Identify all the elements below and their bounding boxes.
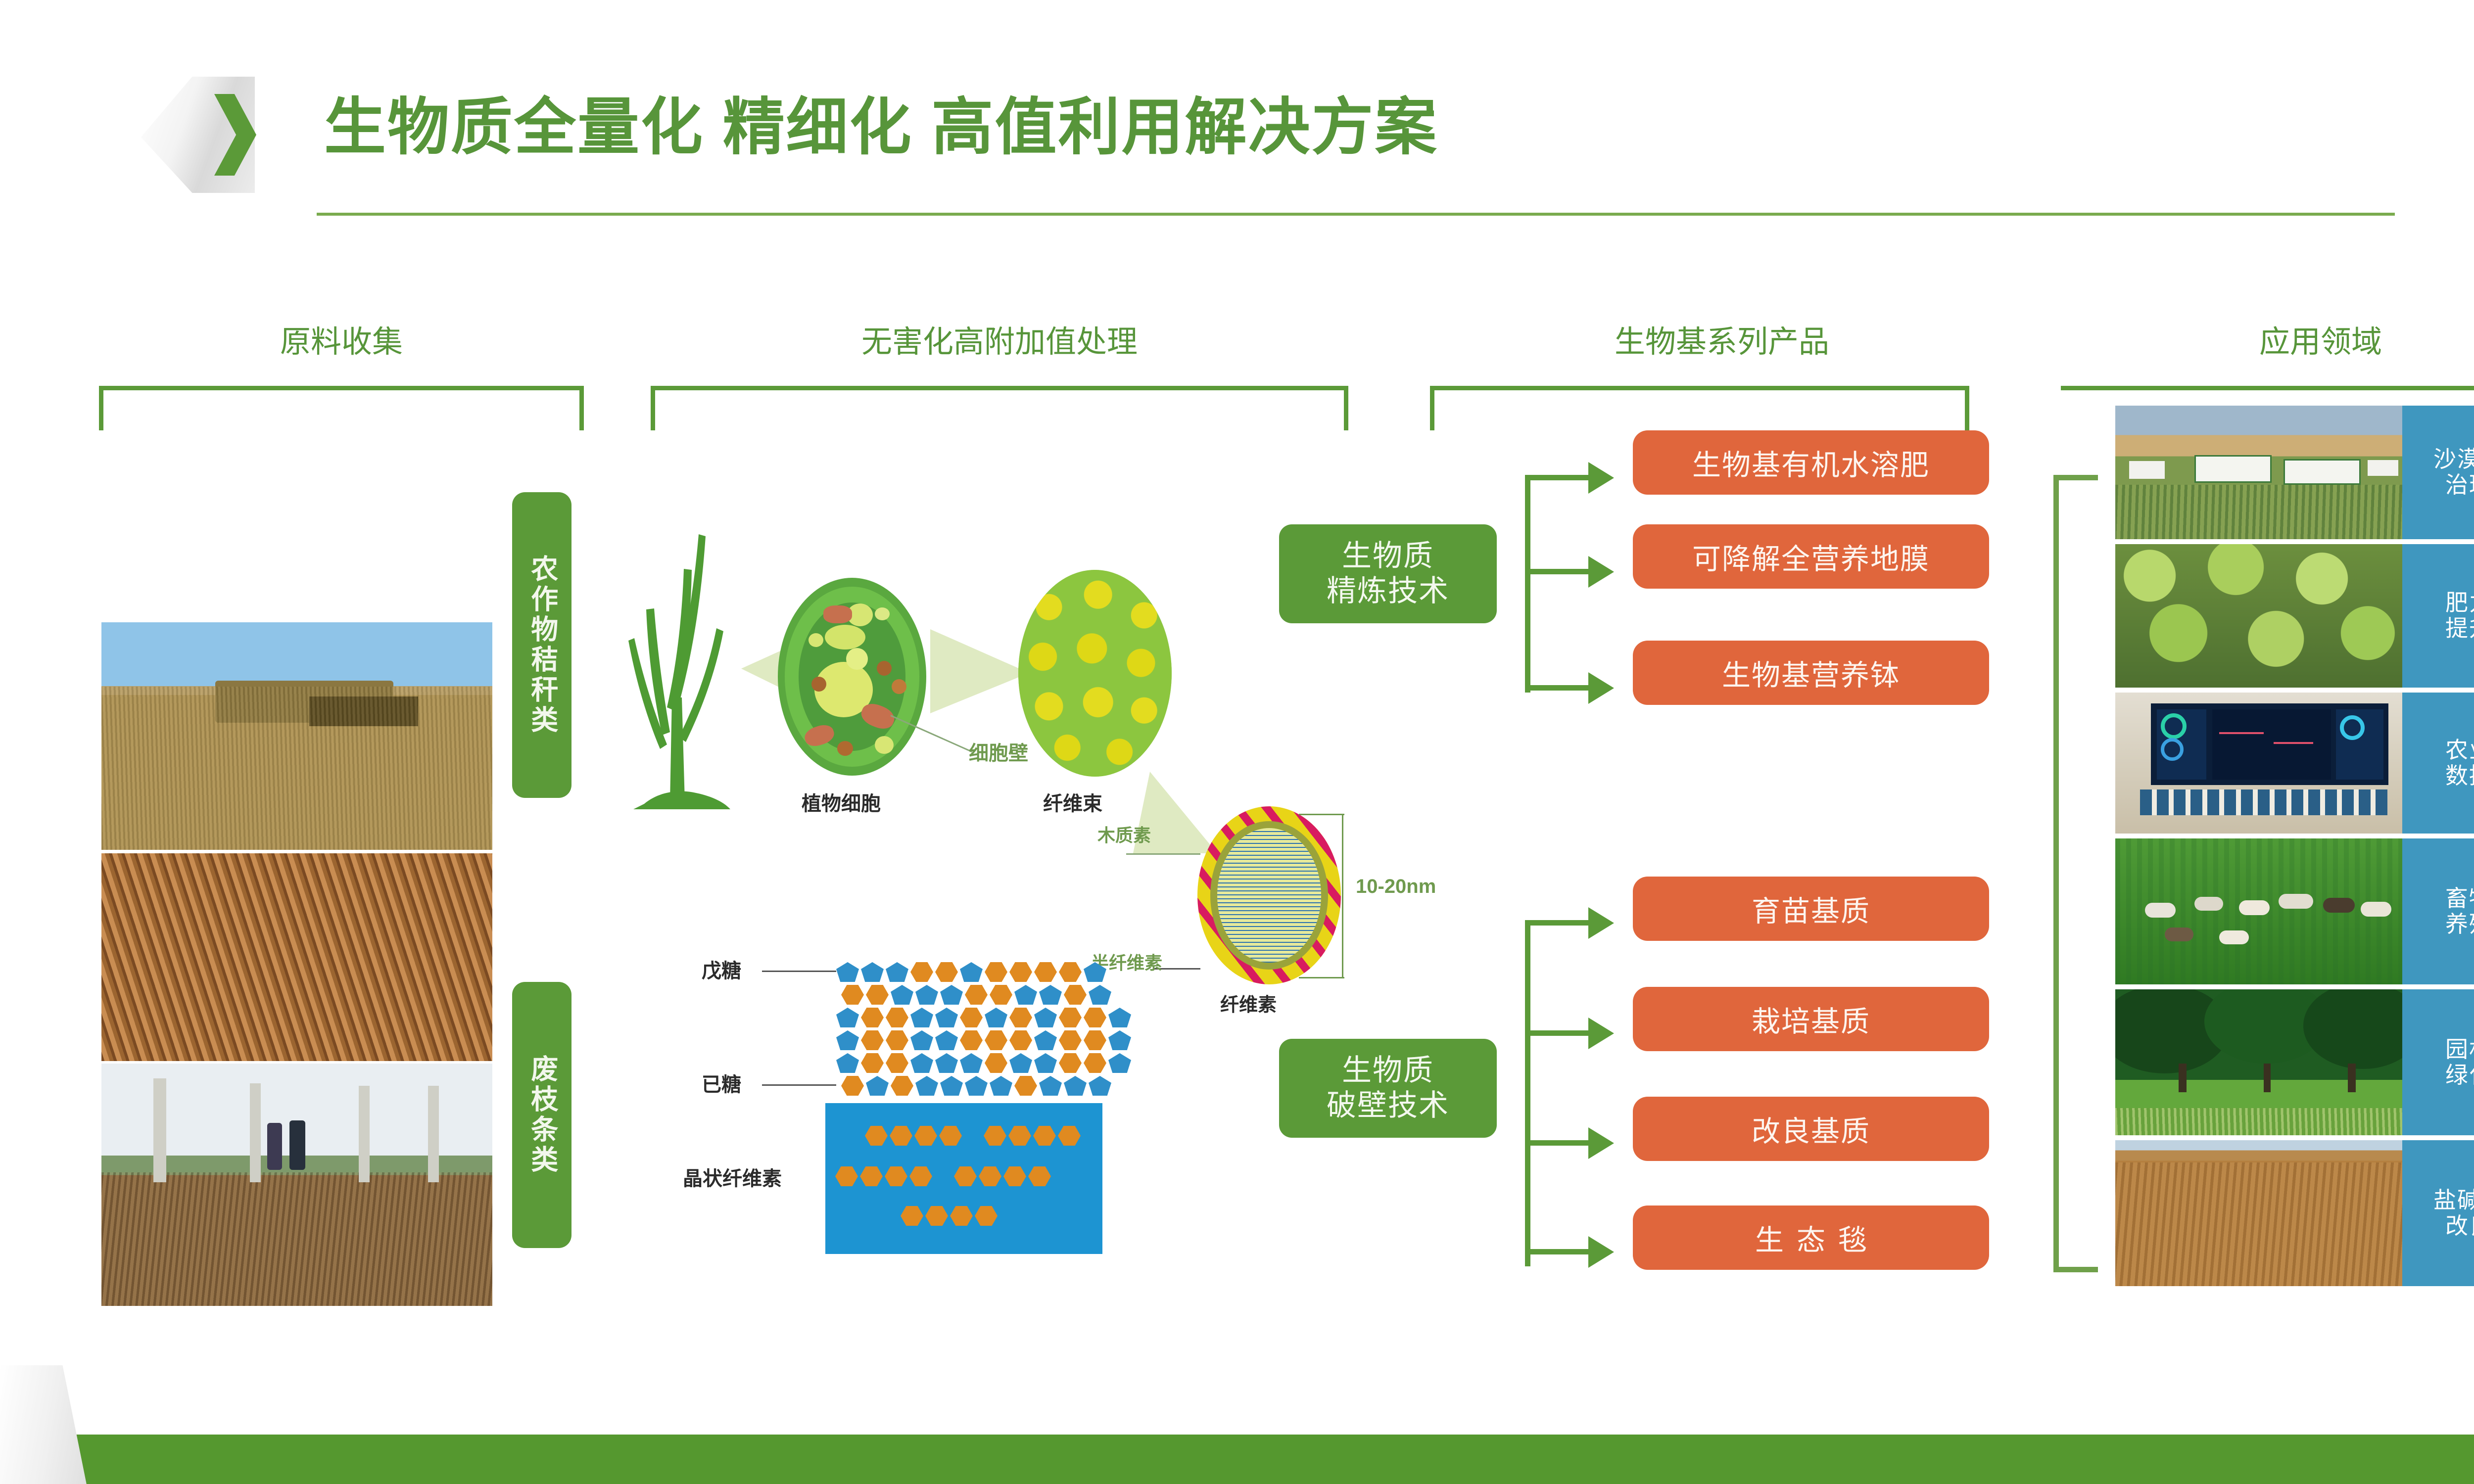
orchard-pruning-photo xyxy=(101,1064,492,1306)
application-label-1: 沙漠化 治理 xyxy=(2402,406,2474,539)
product-pill-4[interactable]: 育苗基质 xyxy=(1633,877,1989,941)
application-line-2: 改良 xyxy=(2445,1213,2474,1239)
application-label-4: 畜牧 养殖 xyxy=(2402,838,2474,984)
application-row-4[interactable]: 畜牧 养殖 xyxy=(2115,838,2474,984)
data-control-room-photo xyxy=(2115,693,2402,834)
connector-branch-7 xyxy=(1525,1249,1594,1254)
application-line-1: 园林 xyxy=(2445,1037,2474,1063)
application-label-5: 园林 绿化 xyxy=(2402,989,2474,1135)
product-label: 生物基有机水溶肥 xyxy=(1692,442,1930,483)
arrow-to-product-4 xyxy=(1588,907,1614,939)
connector-branch-1 xyxy=(1525,475,1594,480)
application-line-1: 沙漠化 xyxy=(2433,447,2474,472)
arrow-to-product-2 xyxy=(1588,556,1614,588)
label-hexose: 已糖 xyxy=(702,1068,741,1097)
tech-line-1: 生物质 xyxy=(1342,539,1434,574)
fiber-bundle-illustration xyxy=(1018,570,1172,777)
application-line-2: 治理 xyxy=(2445,472,2474,498)
label-cellulose: 纤维素 xyxy=(1220,989,1277,1017)
section-header-products: 生物基系列产品 xyxy=(1425,317,2019,361)
product-label: 育苗基质 xyxy=(1752,888,1870,929)
connector-spine-top-visible xyxy=(1525,475,1530,691)
product-label: 栽培基质 xyxy=(1752,998,1870,1040)
section-header-application: 应用领域 xyxy=(2073,317,2474,361)
product-pill-7[interactable]: 生态毯 xyxy=(1633,1206,1989,1270)
application-line-2: 数据 xyxy=(2445,763,2474,789)
application-line-2: 养殖 xyxy=(2445,912,2474,937)
bracket-application xyxy=(2061,386,2474,393)
scale-bar-top-tick xyxy=(1299,814,1344,815)
product-pill-5[interactable]: 栽培基质 xyxy=(1633,987,1989,1051)
section-header-collection: 原料收集 xyxy=(143,317,539,361)
connector-branch-4 xyxy=(1525,920,1594,926)
product-label: 可降解全营养地膜 xyxy=(1692,536,1930,577)
bracket-processing xyxy=(651,386,1348,430)
feedstock-tag-crop-straw[interactable]: 农作物秸秆类 xyxy=(512,492,571,798)
crystalline-cellulose-illustration xyxy=(825,1103,1102,1254)
footer-bar xyxy=(0,1435,2474,1484)
connector-branch-2 xyxy=(1525,569,1594,574)
arrow-to-product-6 xyxy=(1588,1127,1614,1159)
saline-soil-photo xyxy=(2115,1140,2402,1286)
arrow-to-product-1 xyxy=(1588,462,1614,494)
connector-branch-6 xyxy=(1525,1140,1594,1146)
scale-bar-vertical xyxy=(1342,814,1343,977)
application-row-1[interactable]: 沙漠化 治理 xyxy=(2115,406,2474,539)
label-crystalline-cellulose: 晶状纤维素 xyxy=(683,1162,782,1191)
tech-line-1: 生物质 xyxy=(1342,1053,1434,1088)
application-row-5[interactable]: 园林 绿化 xyxy=(2115,989,2474,1135)
label-pentose: 戊糖 xyxy=(702,955,741,983)
application-line-2: 绿化 xyxy=(2445,1063,2474,1088)
microfibril-cross-section xyxy=(1197,806,1341,984)
tech-box-cell-wall-breaking[interactable]: 生物质 破壁技术 xyxy=(1279,1039,1497,1138)
product-label: 改良基质 xyxy=(1752,1108,1870,1150)
connector-spine-bottom xyxy=(1525,920,1530,1266)
title-underline-rule xyxy=(317,213,2395,216)
leader-hexose xyxy=(762,1084,836,1086)
product-pill-6[interactable]: 改良基质 xyxy=(1633,1097,1989,1161)
label-cell-wall: 细胞壁 xyxy=(969,737,1028,766)
application-line-1: 农业 xyxy=(2445,738,2474,763)
connector-branch-5 xyxy=(1525,1030,1594,1036)
application-line-1: 畜牧 xyxy=(2445,886,2474,912)
arrow-to-product-3 xyxy=(1588,672,1614,704)
leader-lignin xyxy=(1126,853,1200,855)
product-pill-1[interactable]: 生物基有机水溶肥 xyxy=(1633,430,1989,495)
feedstock-tag-waste-branch[interactable]: 废枝条类 xyxy=(512,982,571,1248)
application-label-3: 农业 数据 xyxy=(2402,693,2474,834)
tech-line-2: 精炼技术 xyxy=(1327,574,1449,609)
product-label: 生物基营养钵 xyxy=(1722,652,1900,694)
application-row-3[interactable]: 农业 数据 xyxy=(2115,693,2474,834)
arrow-to-product-7 xyxy=(1588,1236,1614,1268)
application-label-6: 盐碱地 改良 xyxy=(2402,1140,2474,1286)
leader-pentose xyxy=(762,971,836,972)
straw-bale-field-photo xyxy=(101,622,492,850)
tech-box-refining[interactable]: 生物质 精炼技术 xyxy=(1279,524,1497,623)
sugar-chain-illustration xyxy=(836,962,1113,1096)
infographic-canvas: 生物质全量化 精细化 高值利用解决方案 原料收集 无害化高附加值处理 生物基系列… xyxy=(0,0,2474,1484)
bracket-products xyxy=(1430,386,1969,430)
grass-plant-icon xyxy=(624,534,753,811)
application-line-1: 肥力 xyxy=(2445,590,2474,616)
desert-greening-photo xyxy=(2115,406,2402,539)
application-row-2[interactable]: 肥力 提升 xyxy=(2115,544,2474,688)
connector-branch-3 xyxy=(1525,685,1594,691)
page-title: 生物质全量化 精细化 高值利用解决方案 xyxy=(324,96,1438,158)
application-label-2: 肥力 提升 xyxy=(2402,544,2474,688)
product-pill-3[interactable]: 生物基营养钵 xyxy=(1633,641,1989,705)
cabbage-field-photo xyxy=(2115,544,2402,688)
pruned-branches-photo xyxy=(101,853,492,1061)
tech-line-2: 破壁技术 xyxy=(1327,1088,1449,1123)
corn-stover-photo xyxy=(101,406,492,618)
scale-bar-bottom-tick xyxy=(1299,977,1344,978)
arrow-to-product-5 xyxy=(1588,1018,1614,1049)
feedstock-tag-label: 废枝条类 xyxy=(527,1055,556,1175)
bracket-products-to-applications xyxy=(2053,475,2103,1272)
product-label: 生态毯 xyxy=(1742,1217,1880,1258)
label-lignin: 木质素 xyxy=(1097,821,1151,847)
hexagon-chevron-icon xyxy=(141,77,255,193)
label-scale-10-20nm: 10-20nm xyxy=(1356,876,1436,898)
section-header-processing: 无害化高附加值处理 xyxy=(653,317,1346,361)
park-trees-photo xyxy=(2115,989,2402,1135)
application-row-6[interactable]: 盐碱地 改良 xyxy=(2115,1140,2474,1286)
application-line-2: 提升 xyxy=(2445,616,2474,642)
sheep-grazing-photo xyxy=(2115,838,2402,984)
feedstock-tag-label: 农作物秸秆类 xyxy=(527,555,556,736)
zoom-wedge-cell-to-fiber xyxy=(930,629,1029,713)
label-fiber-bundle: 纤维束 xyxy=(1043,788,1102,816)
label-plant-cell: 植物细胞 xyxy=(802,788,881,816)
plant-cell-illustration xyxy=(778,578,926,776)
product-pill-2[interactable]: 可降解全营养地膜 xyxy=(1633,524,1989,589)
application-line-1: 盐碱地 xyxy=(2433,1188,2474,1213)
